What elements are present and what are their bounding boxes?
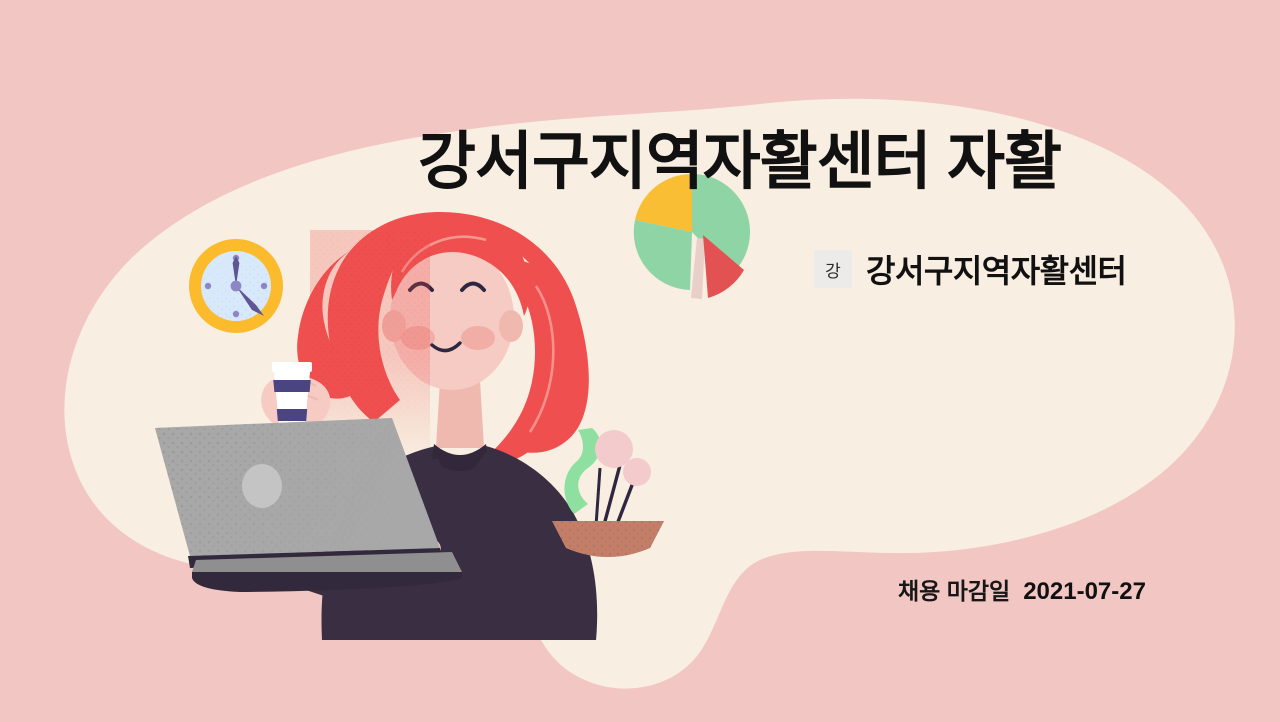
cup-band-top [273,380,310,392]
cup-lid [272,362,312,372]
flower-head-2 [623,458,651,486]
cheek-right [461,326,495,350]
deadline-label: 채용 마감일 [898,572,1010,606]
company-name: 강서구지역자활센터 [866,246,1126,292]
neck [436,380,484,448]
job-posting-card: 강서구지역자활센터 자활 강 강서구지역자활센터 채용 마감일 2021-07-… [0,0,1280,722]
illustration-artwork [0,0,1280,722]
company-row: 강 강서구지역자활센터 [814,246,1126,292]
wall-clock [189,239,283,333]
ear-right [499,310,523,342]
company-logo-badge: 강 [814,250,852,288]
deadline-date: 2021-07-27 [1023,578,1146,606]
deadline-row: 채용 마감일 2021-07-27 [898,572,1146,606]
clock-center-pin [231,281,242,292]
coffee-cup [272,362,312,424]
cup-band-bottom [277,409,307,421]
laptop-logo [242,464,282,508]
page-title: 강서구지역자활센터 자활 [418,128,1178,196]
